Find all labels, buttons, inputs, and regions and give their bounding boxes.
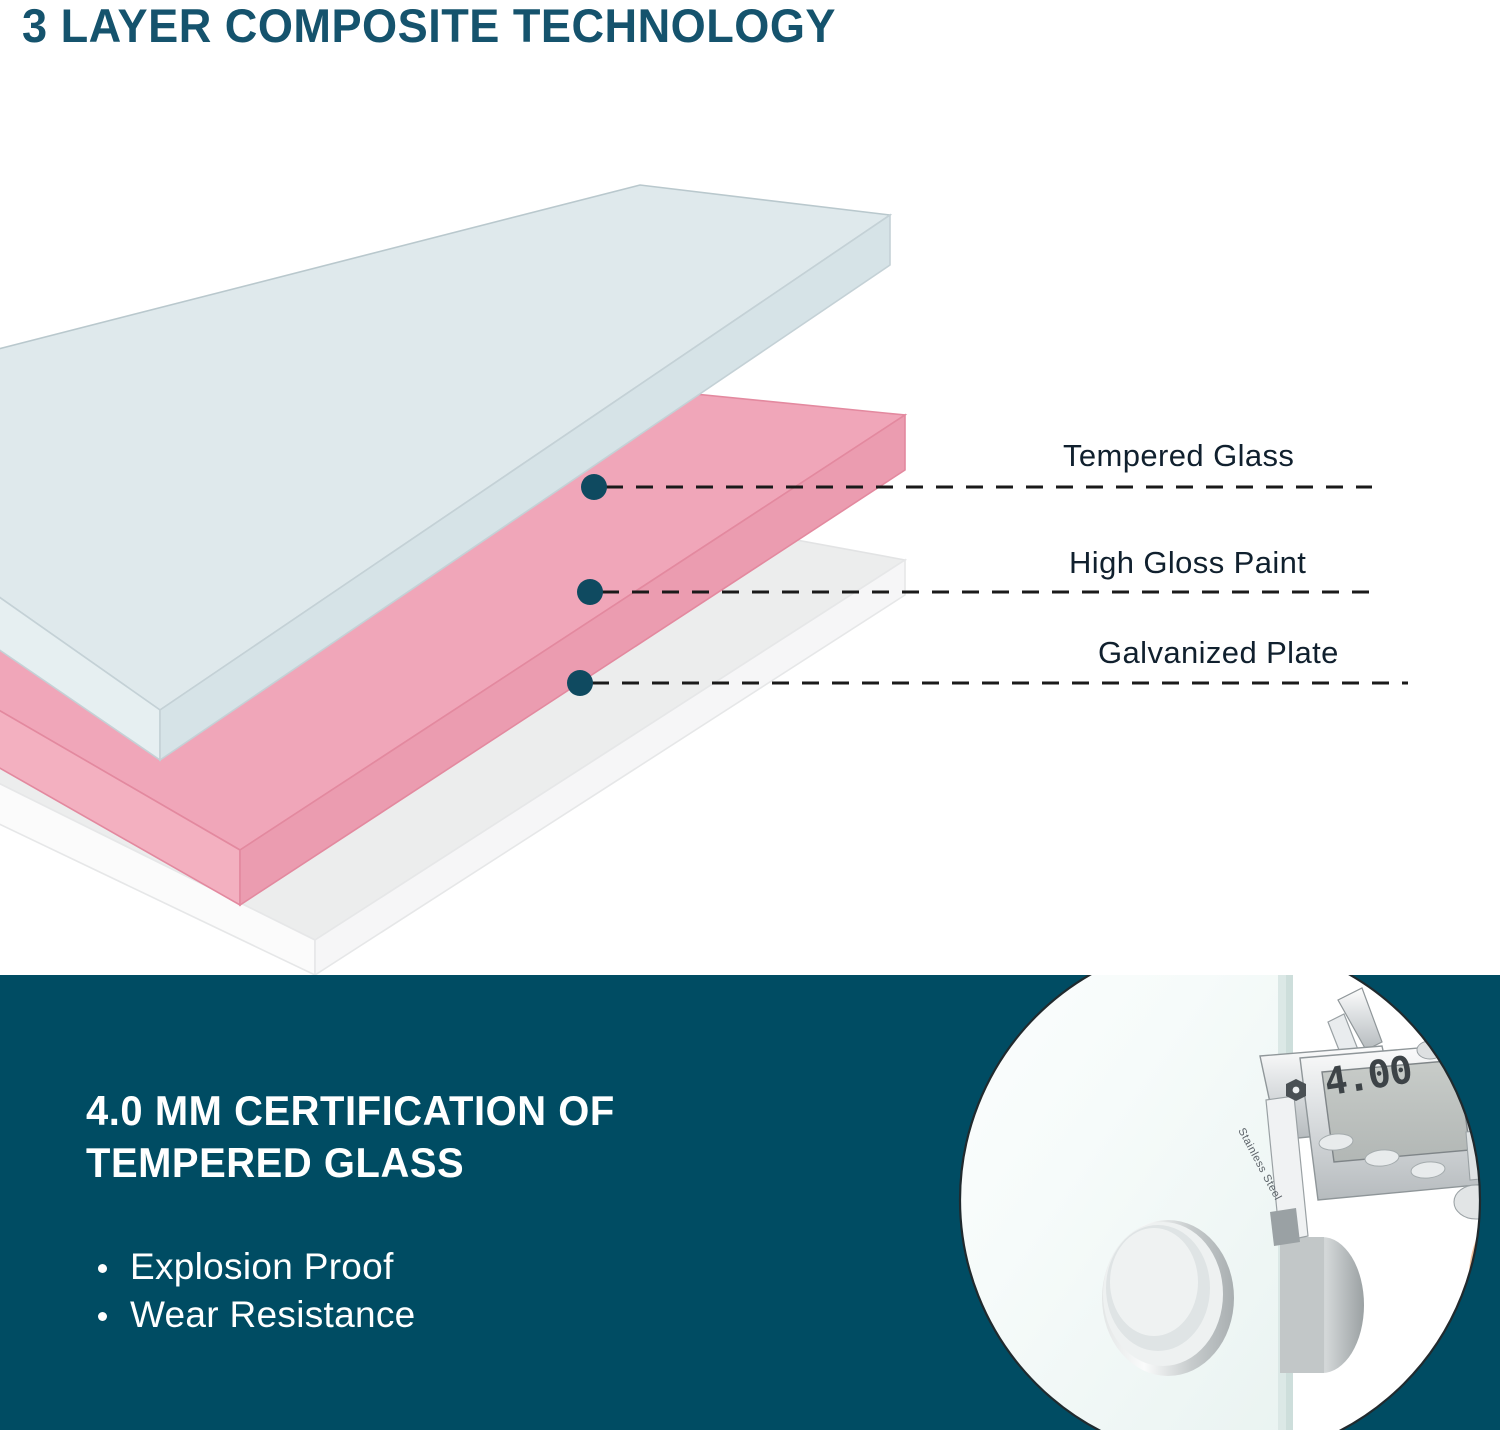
feature-panel: 4.0 MM CERTIFICATION OF TEMPERED GLASS E…	[0, 975, 1500, 1430]
standoff-rear-disc	[1280, 1237, 1364, 1373]
layer-label-high-gloss-paint: High Gloss Paint	[1069, 545, 1306, 581]
layer-label-galvanized-plate: Galvanized Plate	[1098, 635, 1339, 671]
bullet-dot-icon	[98, 1312, 107, 1321]
glass-panel	[930, 975, 1293, 1430]
layer-diagram-section: Tempered Glass High Gloss Paint Galvaniz…	[0, 60, 1500, 975]
page-title: 3 LAYER COMPOSITE TECHNOLOGY	[22, 0, 1078, 56]
product-photo: 4.00 Stainless Steel	[930, 975, 1500, 1430]
feature-bullet-label: Wear Resistance	[130, 1294, 416, 1335]
feature-bullet-label: Explosion Proof	[130, 1246, 394, 1287]
list-item: Wear Resistance	[92, 1291, 416, 1339]
product-photo-graphic	[930, 975, 1500, 1430]
infographic-page: 3 LAYER COMPOSITE TECHNOLOGY	[0, 0, 1500, 1430]
list-item: Explosion Proof	[92, 1243, 416, 1291]
feature-panel-heading: 4.0 MM CERTIFICATION OF TEMPERED GLASS	[86, 1085, 751, 1189]
feature-bullet-list: Explosion Proof Wear Resistance	[92, 1243, 416, 1339]
bullet-dot-icon	[98, 1264, 107, 1273]
standoff-front-disc	[1102, 1220, 1234, 1376]
layer-diagram-graphic	[0, 60, 1500, 975]
layer-label-tempered-glass: Tempered Glass	[1063, 438, 1294, 474]
